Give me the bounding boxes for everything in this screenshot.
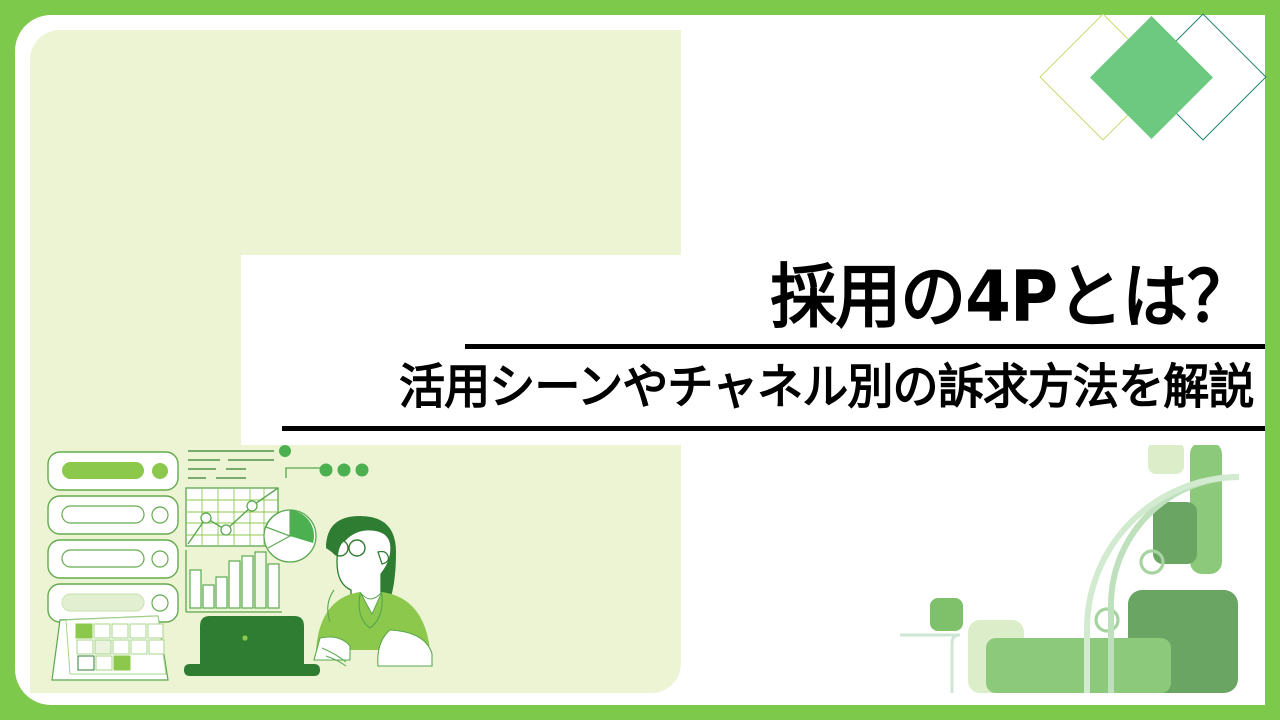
- text-lines-graphic: [188, 451, 274, 478]
- thumbnail-canvas: 採用の4Pとは？ 活用シーンやチャネル別の訴求方法を解説: [0, 0, 1280, 720]
- bar-chart-graphic: [190, 552, 279, 608]
- title-underline-secondary: [282, 426, 1265, 431]
- person-at-laptop: [314, 516, 432, 666]
- laptop-graphic: [184, 616, 320, 676]
- page-subtitle: 活用シーンやチャネル別の訴求方法を解説: [282, 351, 1265, 423]
- page-title: 採用の4Pとは？: [302, 255, 1265, 339]
- abstract-green-shapes-graphic: [900, 430, 1265, 693]
- pie-chart-graphic: [264, 510, 316, 562]
- title-underline-primary: [465, 344, 1265, 349]
- illustration-data-analyst-workspace: [30, 430, 460, 693]
- diamond-decoration-group: [1050, 14, 1265, 174]
- calendar-graphic: [52, 616, 168, 680]
- title-band: 採用の4Pとは？ 活用シーンやチャネル別の訴求方法を解説: [241, 255, 1265, 445]
